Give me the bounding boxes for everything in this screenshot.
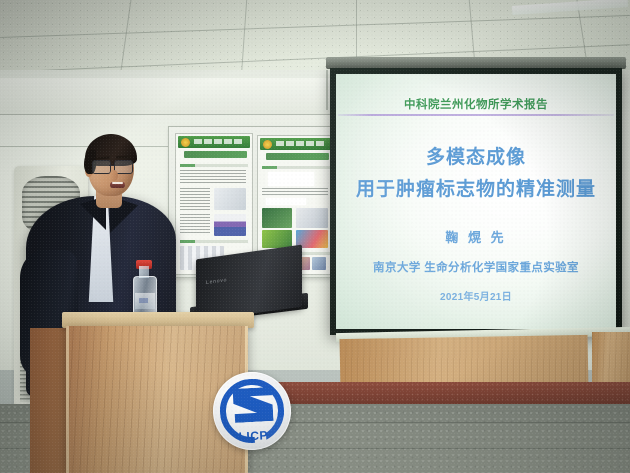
speaker-nose <box>110 170 118 181</box>
poster-section-rule <box>180 164 248 167</box>
speaker-mouth <box>110 182 125 188</box>
poster-section-rule <box>180 240 248 243</box>
slide-header-text: 中科院兰州化物所学术报告 <box>336 96 616 112</box>
poster-figure <box>214 188 246 210</box>
poster-glare <box>266 198 306 205</box>
desk-grain <box>592 332 630 386</box>
poster-seal-icon <box>181 138 190 147</box>
poster-figure <box>262 230 292 248</box>
poster-bar-chart <box>214 214 246 236</box>
poster-section-rule <box>262 166 330 169</box>
podium-side-panel <box>30 328 70 473</box>
poster-text-block <box>180 214 210 234</box>
laptop-brand-logo: Lenovo <box>206 277 227 286</box>
projection-screen: 中科院兰州化物所学术报告 多模态成像 用于肿瘤标志物的精准测量 鞠 熀 先 南京… <box>336 74 616 329</box>
eyeglass-lens-left <box>92 160 111 174</box>
slide-divider <box>338 114 614 116</box>
poster-title <box>184 151 248 158</box>
slide-date: 2021年5月21日 <box>336 288 616 303</box>
lecture-photo: 中科院兰州化物所学术报告 多模态成像 用于肿瘤标志物的精准测量 鞠 熀 先 南京… <box>0 0 630 473</box>
logo-z-mark-icon <box>232 387 274 423</box>
poster-text-block <box>180 188 210 210</box>
poster-title <box>266 153 330 160</box>
slide-title-line2: 用于肿瘤标志物的精准测量 <box>336 174 616 201</box>
poster-header <box>178 136 250 148</box>
podium-edge <box>66 326 69 473</box>
poster-header <box>260 138 332 150</box>
poster-glare <box>268 172 314 186</box>
poster-figure <box>262 208 292 228</box>
poster-figure <box>312 257 326 270</box>
poster-figure <box>296 208 328 228</box>
wall-seam <box>326 70 328 110</box>
poster-text-block <box>180 170 246 184</box>
slide-title-line1: 多模态成像 <box>336 142 616 169</box>
poster-text-block <box>262 188 328 196</box>
slide-speaker-name: 鞠 熀 先 <box>336 227 616 246</box>
bottle-label <box>135 293 155 309</box>
poster-seal-icon <box>263 140 272 149</box>
wall-seam <box>0 146 168 147</box>
slide-affiliation: 南京大学 生命分析化学国家重点实验室 <box>336 259 616 275</box>
wall-upper-band <box>0 78 360 115</box>
desk-front-panel <box>592 332 630 386</box>
